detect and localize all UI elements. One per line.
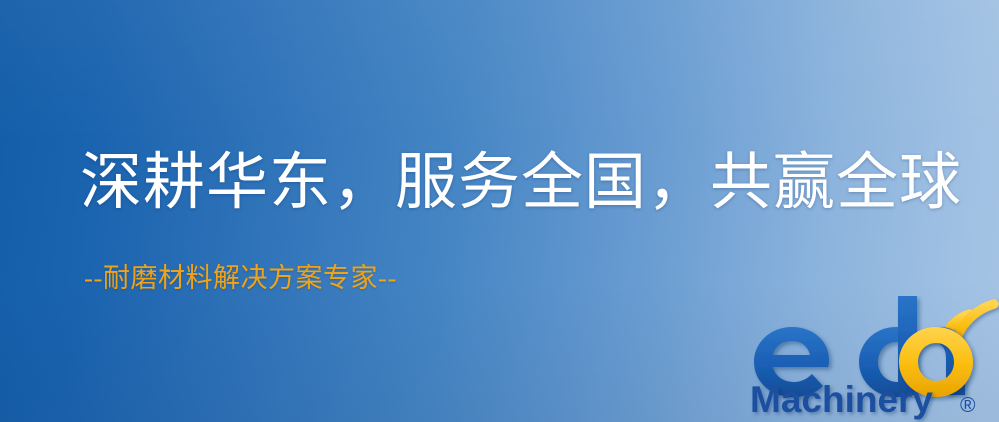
logo-tagline: Machinery: [750, 379, 933, 420]
registered-mark-icon: ®: [960, 394, 976, 417]
echo-machinery-logo: Machinery ®: [748, 296, 999, 422]
hero-banner: 深耕华东，服务全国，共赢全球 --耐磨材料解决方案专家--: [0, 0, 999, 422]
banner-headline: 深耕华东，服务全国，共赢全球: [80, 152, 962, 214]
banner-subtitle: --耐磨材料解决方案专家--: [84, 265, 397, 292]
